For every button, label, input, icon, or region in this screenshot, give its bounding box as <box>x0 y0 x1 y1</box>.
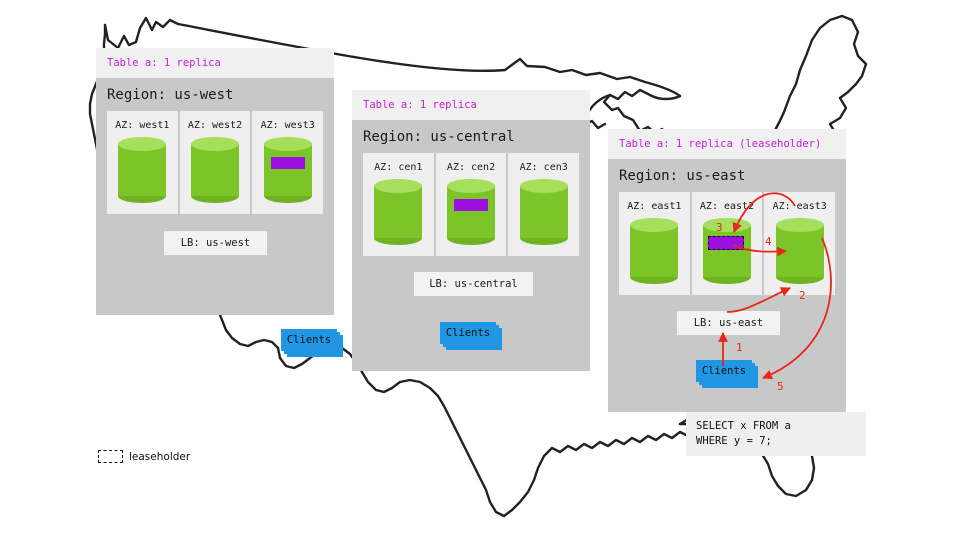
clients-label: Clients <box>440 322 496 344</box>
cylinder-top <box>776 218 824 232</box>
az-label: AZ: west3 <box>252 111 323 131</box>
cylinder-body <box>703 225 751 277</box>
cylinder-body <box>630 225 678 277</box>
az-label: AZ: west2 <box>180 111 251 131</box>
load-balancer-us-west[interactable]: LB: us-west <box>164 231 267 255</box>
az-label: AZ: east2 <box>692 192 763 212</box>
node-cylinder-west2[interactable] <box>191 137 239 203</box>
az-box-west1[interactable]: AZ: west1 <box>107 111 178 214</box>
cylinder-body <box>776 225 824 277</box>
legend: leaseholder <box>98 450 190 463</box>
load-balancer-us-central[interactable]: LB: us-central <box>414 272 533 296</box>
az-label: AZ: east3 <box>764 192 835 212</box>
az-box-east2[interactable]: AZ: east2 <box>692 192 763 295</box>
cylinder-body <box>374 186 422 238</box>
node-cylinder-west1[interactable] <box>118 137 166 203</box>
clients-us-central[interactable]: Clients <box>440 322 500 346</box>
az-box-east1[interactable]: AZ: east1 <box>619 192 690 295</box>
az-box-east3[interactable]: AZ: east3 <box>764 192 835 295</box>
panel-header-us-west: Table a: 1 replica <box>96 48 334 78</box>
replica-label: Table a: 1 replica (leaseholder) <box>619 138 821 150</box>
node-cylinder-east3[interactable] <box>776 218 824 284</box>
leaseholder-swatch-icon <box>98 450 123 463</box>
cylinder-top <box>118 137 166 151</box>
region-title: Region: us-west <box>96 78 334 111</box>
az-box-west2[interactable]: AZ: west2 <box>180 111 251 214</box>
clients-us-west[interactable]: Clients <box>281 329 341 353</box>
cylinder-top <box>374 179 422 193</box>
cylinder-body <box>520 186 568 238</box>
panel-header-us-east: Table a: 1 replica (leaseholder) <box>608 129 846 159</box>
load-balancer-us-east[interactable]: LB: us-east <box>677 311 780 335</box>
node-cylinder-cen3[interactable] <box>520 179 568 245</box>
az-box-west3[interactable]: AZ: west3 <box>252 111 323 214</box>
replica-label: Table a: 1 replica <box>107 57 221 69</box>
cylinder-top <box>447 179 495 193</box>
panel-header-us-central: Table a: 1 replica <box>352 90 590 120</box>
az-label: AZ: west1 <box>107 111 178 131</box>
cylinder-top <box>520 179 568 193</box>
clients-label: Clients <box>696 360 752 382</box>
legend-label: leaseholder <box>129 451 190 463</box>
node-cylinder-cen1[interactable] <box>374 179 422 245</box>
az-strip-us-central: AZ: cen1 AZ: cen2 AZ: cen3 <box>363 153 579 256</box>
cylinder-body <box>118 144 166 196</box>
az-box-cen1[interactable]: AZ: cen1 <box>363 153 434 256</box>
az-strip-us-west: AZ: west1 AZ: west2 AZ: west3 <box>107 111 323 214</box>
region-panel-us-west: Table a: 1 replica Region: us-west AZ: w… <box>96 48 334 315</box>
node-cylinder-cen2[interactable] <box>447 179 495 245</box>
node-cylinder-east1[interactable] <box>630 218 678 284</box>
region-title: Region: us-east <box>608 159 846 192</box>
replica-marker-west3 <box>271 157 305 169</box>
cylinder-top <box>630 218 678 232</box>
replica-marker-cen2 <box>454 199 488 211</box>
az-label: AZ: east1 <box>619 192 690 212</box>
cylinder-top <box>703 218 751 232</box>
region-title: Region: us-central <box>352 120 590 153</box>
az-label: AZ: cen3 <box>508 153 579 173</box>
az-box-cen2[interactable]: AZ: cen2 <box>436 153 507 256</box>
clients-label: Clients <box>281 329 337 351</box>
diagram-stage: Table a: 1 replica Region: us-west AZ: w… <box>0 0 960 540</box>
node-cylinder-west3[interactable] <box>264 137 312 203</box>
clients-us-east[interactable]: Clients <box>696 360 756 384</box>
cylinder-body <box>191 144 239 196</box>
cylinder-top <box>264 137 312 151</box>
sql-query-box: SELECT x FROM a WHERE y = 7; <box>686 412 866 456</box>
replica-label: Table a: 1 replica <box>363 99 477 111</box>
az-label: AZ: cen1 <box>363 153 434 173</box>
cylinder-body <box>264 144 312 196</box>
az-label: AZ: cen2 <box>436 153 507 173</box>
az-box-cen3[interactable]: AZ: cen3 <box>508 153 579 256</box>
region-panel-us-east: Table a: 1 replica (leaseholder) Region:… <box>608 129 846 412</box>
leaseholder-marker-east2 <box>708 236 744 250</box>
cylinder-top <box>191 137 239 151</box>
cylinder-body <box>447 186 495 238</box>
region-panel-us-central: Table a: 1 replica Region: us-central AZ… <box>352 90 590 371</box>
node-cylinder-east2[interactable] <box>703 218 751 284</box>
az-strip-us-east: AZ: east1 AZ: east2 AZ: east3 <box>619 192 835 295</box>
